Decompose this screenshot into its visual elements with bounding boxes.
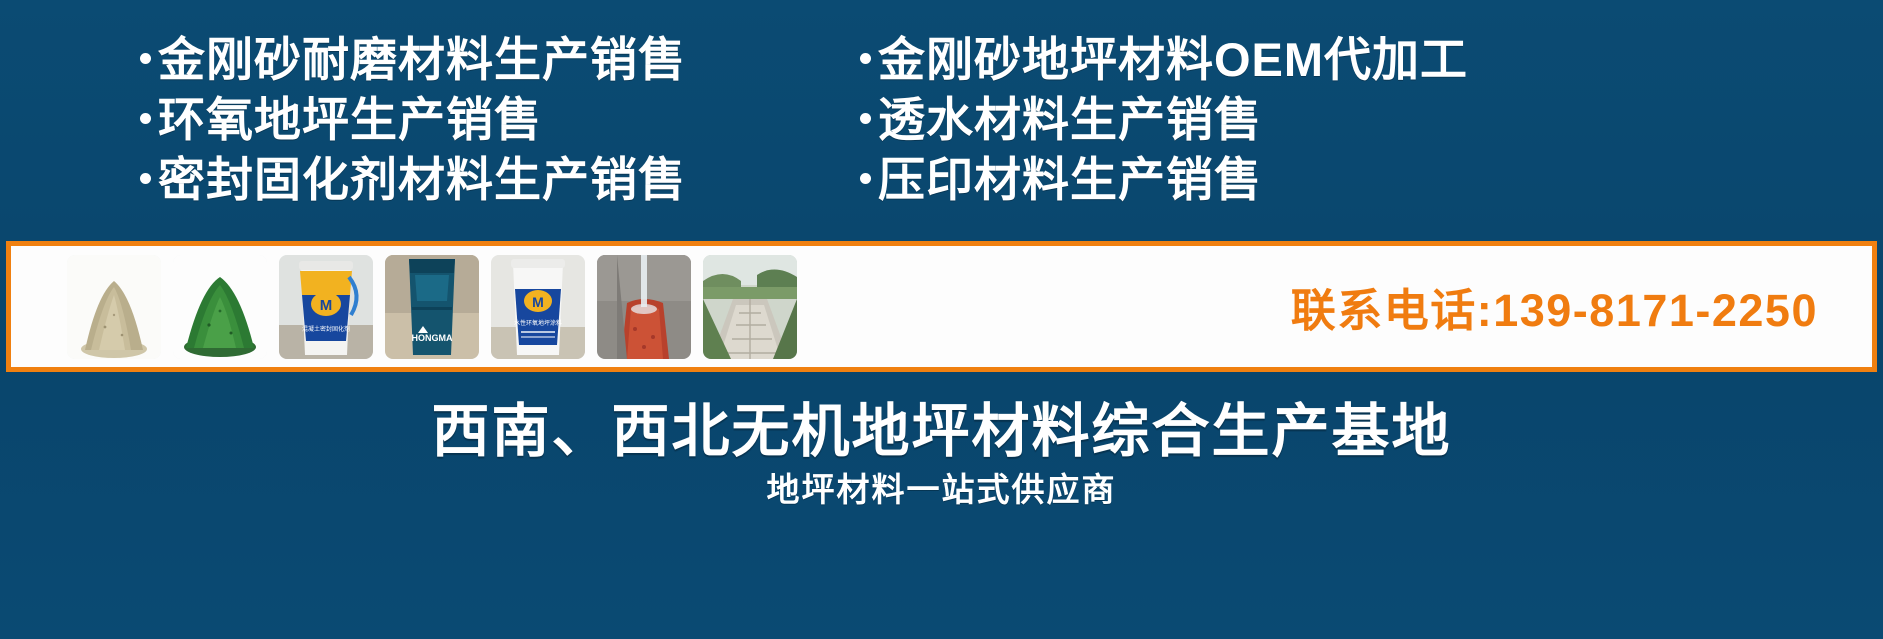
advertisement-banner: 金刚砂耐磨材料生产销售 环氧地坪生产销售 密封固化剂材料生产销售 金刚砂地坪材料…: [0, 0, 1883, 639]
product-photo-epoxy-pail: M 水性环氧地坪涂料: [491, 255, 585, 359]
product-thumbnail-row: M 混凝土密封固化剂 HONGMA: [19, 255, 797, 359]
svg-text:M: M: [532, 294, 544, 310]
feature-item-label: 透水材料生产销售: [878, 90, 1262, 150]
feature-item-label: 金刚砂地坪材料OEM代加工: [878, 30, 1468, 90]
feature-item: 压印材料生产销售: [860, 150, 1560, 210]
feature-item-label: 金刚砂耐磨材料生产销售: [158, 30, 686, 90]
page-title: 西南、西北无机地坪材料综合生产基地: [0, 384, 1883, 468]
product-photo-green-powder: [173, 255, 267, 359]
feature-lists: 金刚砂耐磨材料生产销售 环氧地坪生产销售 密封固化剂材料生产销售 金刚砂地坪材料…: [0, 30, 1883, 230]
bullet-dot-icon: [860, 113, 871, 124]
feature-item: 金刚砂耐磨材料生产销售: [140, 30, 860, 90]
bullet-dot-icon: [140, 53, 151, 64]
product-photo-permeable-red: [597, 255, 691, 359]
feature-column-right: 金刚砂地坪材料OEM代加工 透水材料生产销售 压印材料生产销售: [860, 30, 1560, 230]
feature-item: 密封固化剂材料生产销售: [140, 150, 860, 210]
feature-item-label: 压印材料生产销售: [878, 150, 1262, 210]
svg-text:M: M: [320, 297, 333, 314]
feature-item-label: 密封固化剂材料生产销售: [158, 150, 686, 210]
feature-item: 环氧地坪生产销售: [140, 90, 860, 150]
bullet-dot-icon: [140, 173, 151, 184]
product-strip: M 混凝土密封固化剂 HONGMA: [6, 241, 1877, 372]
feature-item: 透水材料生产销售: [860, 90, 1560, 150]
product-photo-stamped-path: [703, 255, 797, 359]
product-photo-sealer-pail: M 混凝土密封固化剂: [279, 255, 373, 359]
bullet-dot-icon: [140, 113, 151, 124]
bullet-dot-icon: [860, 173, 871, 184]
product-photo-emery-powder: [67, 255, 161, 359]
feature-item: 金刚砂地坪材料OEM代加工: [860, 30, 1560, 90]
feature-column-left: 金刚砂耐磨材料生产销售 环氧地坪生产销售 密封固化剂材料生产销售: [140, 30, 860, 230]
svg-text:HONGMA: HONGMA: [412, 333, 453, 343]
svg-text:混凝土密封固化剂: 混凝土密封固化剂: [302, 325, 350, 333]
bullet-dot-icon: [860, 53, 871, 64]
feature-item-label: 环氧地坪生产销售: [158, 90, 542, 150]
page-subtitle: 地坪材料一站式供应商: [0, 463, 1883, 511]
svg-text:水性环氧地坪涂料: 水性环氧地坪涂料: [514, 319, 562, 327]
product-photo-hongma-pail: HONGMA: [385, 255, 479, 359]
contact-phone-number[interactable]: 联系电话:139-8171-2250: [1291, 274, 1864, 339]
